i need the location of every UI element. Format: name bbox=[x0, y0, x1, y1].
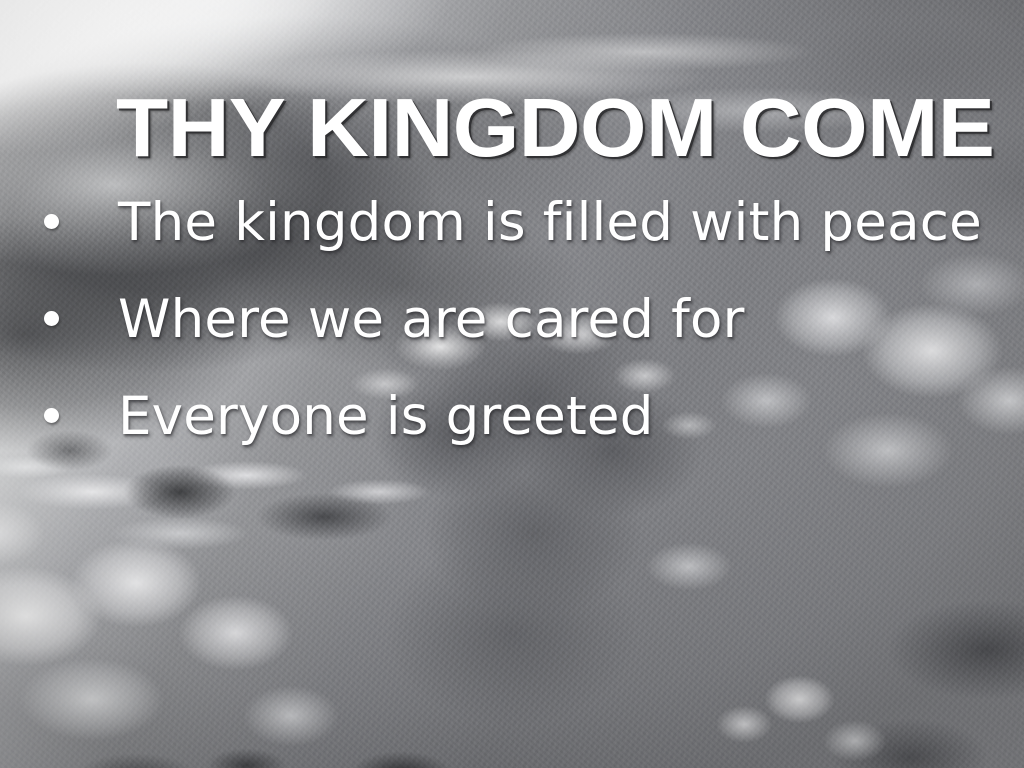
bullet-point-icon bbox=[44, 214, 59, 229]
bullet-point-icon bbox=[44, 408, 59, 423]
bullet-item-label: Everyone is greeted bbox=[118, 390, 654, 443]
bullet-point-icon bbox=[44, 311, 59, 326]
bullet-list: The kingdom is filled with peace Where w… bbox=[44, 196, 1004, 487]
list-item: The kingdom is filled with peace bbox=[44, 196, 1004, 293]
slide-content: THY KINGDOM COME The kingdom is filled w… bbox=[0, 0, 1024, 768]
bullet-item-label: The kingdom is filled with peace bbox=[118, 196, 982, 249]
list-item: Everyone is greeted bbox=[44, 390, 1004, 487]
list-item: Where we are cared for bbox=[44, 293, 1004, 390]
slide-title: THY KINGDOM COME bbox=[116, 89, 940, 168]
bullet-item-label: Where we are cared for bbox=[118, 293, 745, 346]
presentation-slide: THY KINGDOM COME The kingdom is filled w… bbox=[0, 0, 1024, 768]
